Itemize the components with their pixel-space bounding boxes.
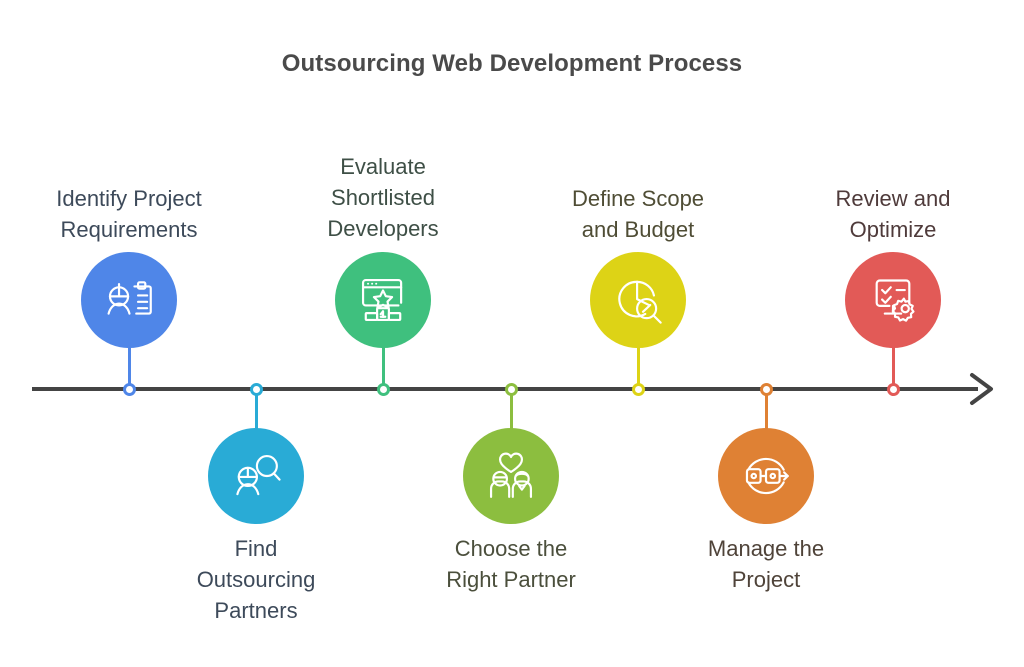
node-label-evaluate-shortlisted-developers: Evaluate Shortlisted Developers — [263, 151, 503, 244]
arrow-right-icon — [972, 375, 991, 403]
partners-heart-icon — [482, 447, 540, 505]
node-label-manage-the-project: Manage the Project — [646, 533, 886, 595]
node-icon-circle-evaluate-shortlisted-developers[interactable] — [335, 252, 431, 348]
axis-node-marker[interactable] — [760, 383, 773, 396]
checklist-gear-icon — [864, 271, 922, 329]
axis-node-marker[interactable] — [505, 383, 518, 396]
node-icon-circle-choose-the-right-partner[interactable] — [463, 428, 559, 524]
node-label-choose-the-right-partner: Choose the Right Partner — [391, 533, 631, 595]
node-icon-circle-identify-project-requirements[interactable] — [81, 252, 177, 348]
pie-chart-search-icon — [609, 271, 667, 329]
workflow-cycle-icon — [737, 447, 795, 505]
axis-node-marker[interactable] — [632, 383, 645, 396]
axis-node-marker[interactable] — [123, 383, 136, 396]
engineer-clipboard-icon — [100, 271, 158, 329]
node-icon-circle-manage-the-project[interactable] — [718, 428, 814, 524]
page-title: Outsourcing Web Development Process — [0, 50, 1024, 78]
process-timeline-infographic: Outsourcing Web Development Process Iden… — [0, 0, 1024, 667]
axis-node-marker[interactable] — [887, 383, 900, 396]
node-icon-circle-find-outsourcing-partners[interactable] — [208, 428, 304, 524]
node-icon-circle-define-scope-and-budget[interactable] — [590, 252, 686, 348]
node-label-define-scope-and-budget: Define Scope and Budget — [518, 183, 758, 245]
axis-node-marker[interactable] — [250, 383, 263, 396]
node-label-identify-project-requirements: Identify Project Requirements — [9, 183, 249, 245]
node-label-review-and-optimize: Review and Optimize — [773, 183, 1013, 245]
node-icon-circle-review-and-optimize[interactable] — [845, 252, 941, 348]
browser-star-podium-icon — [354, 271, 412, 329]
axis-node-marker[interactable] — [377, 383, 390, 396]
engineer-search-icon — [227, 447, 285, 505]
node-label-find-outsourcing-partners: Find Outsourcing Partners — [136, 533, 376, 626]
